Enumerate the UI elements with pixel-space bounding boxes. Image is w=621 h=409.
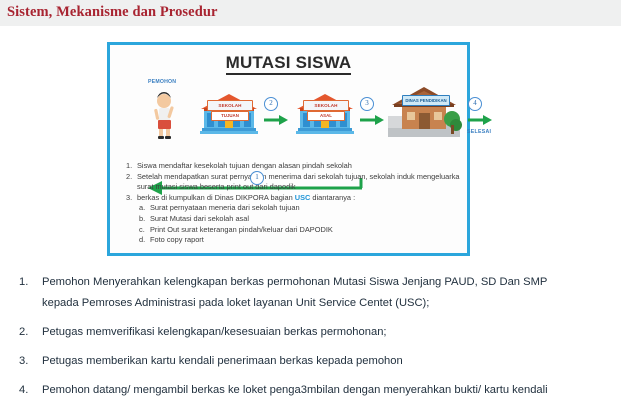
diagram-step-text: Siswa mendaftar kesekolah tujuan dengan … (137, 161, 352, 170)
diagram-substep-text: Foto copy raport (150, 235, 204, 244)
list-item: 1. Pemohon Menyerahkan kelengkapan berka… (18, 272, 618, 314)
diagram-step: 3. berkas di kumpulkan di Dinas DIKPORA … (126, 193, 462, 204)
list-item-text: Pemohon datang/ mengambil berkas ke loke… (42, 380, 618, 401)
diagram-step-number: 2. (126, 172, 132, 183)
list-item-text: Petugas memverifikasi kelengkapan/kesesu… (42, 322, 618, 343)
diagram-substep-text: Surat Mutasi dari sekolah asal (150, 214, 249, 223)
mutasi-siswa-diagram: MUTASI SISWA PEMOHON (107, 42, 470, 256)
list-item-text: Petugas memberikan kartu kendali penerim… (42, 351, 618, 372)
diagram-title-text: MUTASI SISWA (226, 53, 352, 75)
diagram-step-text-before: berkas di kumpulkan di Dinas DIKPORA bag… (137, 193, 295, 202)
list-item-number: 2. (19, 322, 28, 343)
list-item: 2. Petugas memverifikasi kelengkapan/kes… (18, 322, 618, 343)
list-item-number: 3. (19, 351, 28, 372)
diagram-substep-number: d. (139, 235, 145, 246)
list-item-number: 4. (19, 380, 28, 401)
list-item-text: Pemohon Menyerahkan kelengkapan berkas p… (42, 272, 618, 293)
applicant-label: PEMOHON (148, 79, 176, 85)
list-item: 4. Pemohon datang/ mengambil berkas ke l… (18, 380, 618, 401)
diagram-substep-text: Surat pernyataan meneria dari sekolah tu… (150, 203, 300, 212)
diagram-flow-row: PEMOHON (110, 75, 467, 147)
school-tujuan-node: SEKOLAH TUJUAN (198, 91, 260, 137)
diagram-step: 2. Setelah mendapatkan surat pernyataan … (126, 172, 462, 193)
school-asal-sign-bottom: ASAL (307, 111, 345, 121)
diagram-substep: d. Foto copy raport (126, 235, 462, 246)
usc-highlight: USC (295, 193, 311, 202)
list-item-text-line2: kepada Pemroses Administrasi pada loket … (42, 297, 429, 309)
school-tujuan-sign-top: SEKOLAH (207, 100, 253, 111)
selesai-label: SELESAI (467, 129, 491, 135)
applicant-figure: PEMOHON (148, 79, 190, 141)
diagram-substep-number: a. (139, 203, 145, 214)
diagram-substep: c. Print Out surat keterangan pindah/kel… (126, 225, 462, 236)
procedure-list: 1. Pemohon Menyerahkan kelengkapan berka… (18, 272, 618, 409)
dinas-pendidikan-sign: DINAS PENDIDIKAN (402, 95, 450, 106)
diagram-substep: a. Surat pernyataan meneria dari sekolah… (126, 203, 462, 214)
arrow-right-icon (467, 113, 493, 127)
arrow-3-number: 3 (360, 97, 374, 111)
dinas-pendidikan-node: DINAS PENDIDIKAN (386, 83, 462, 141)
diagram-step-text-after: diantaranya : (310, 193, 355, 202)
office-building-icon (386, 83, 462, 141)
arrow-right-icon (359, 113, 385, 127)
arrow-1-number: 1 (250, 171, 264, 185)
diagram-substep: b. Surat Mutasi dari sekolah asal (126, 214, 462, 225)
diagram-step-number: 3. (126, 193, 132, 204)
arrow-2-number: 2 (264, 97, 278, 111)
diagram-substep-text: Print Out surat keterangan pindah/keluar… (150, 225, 333, 234)
page-title: Sistem, Mekanisme dan Prosedur (7, 4, 218, 21)
school-asal-node: SEKOLAH ASAL (294, 91, 356, 137)
list-item-number: 1. (19, 272, 28, 293)
arrow-4-number: 4 (468, 97, 482, 111)
diagram-substep-number: b. (139, 214, 145, 225)
diagram-steps-list: 1. Siswa mendaftar kesekolah tujuan deng… (126, 161, 462, 246)
arrow-right-icon (263, 113, 289, 127)
diagram-title: MUTASI SISWA (110, 53, 467, 73)
person-icon (148, 79, 190, 141)
diagram-step: 1. Siswa mendaftar kesekolah tujuan deng… (126, 161, 462, 172)
school-tujuan-sign-bottom: TUJUAN (211, 111, 249, 121)
diagram-step-number: 1. (126, 161, 132, 172)
school-asal-sign-top: SEKOLAH (303, 100, 349, 111)
diagram-step-text: Setelah mendapatkan surat pernyataan men… (137, 172, 460, 192)
list-item: 3. Petugas memberikan kartu kendali pene… (18, 351, 618, 372)
diagram-substep-number: c. (139, 225, 145, 236)
